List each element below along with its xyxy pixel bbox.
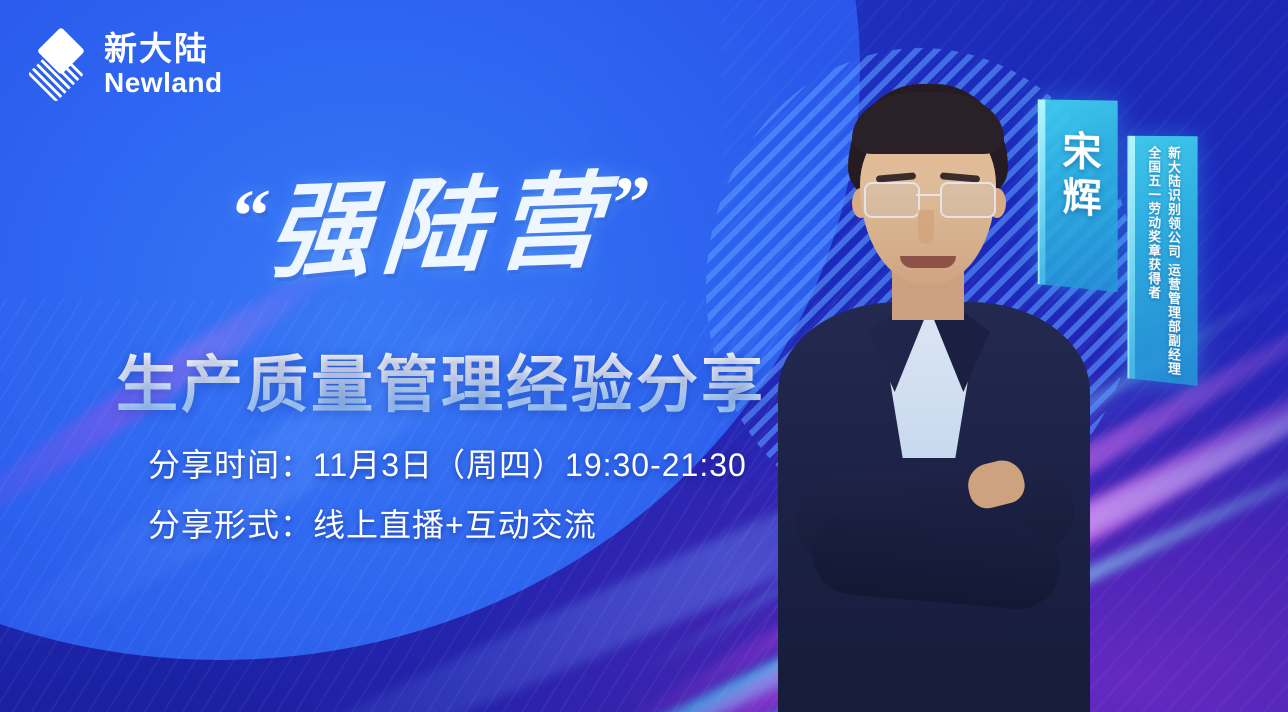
speaker-credential-1: 新大陆识别领公司 运营管理部副经理 <box>1165 146 1181 374</box>
page-subtitle: 生产质量管理经验分享 <box>116 334 766 424</box>
speaker-mouth <box>900 256 956 268</box>
headline-block: “强陆营” <box>232 168 852 277</box>
speaker-nose <box>918 210 934 244</box>
speaker-credential-2: 全国五一劳动奖章获得者 <box>1145 146 1161 372</box>
quote-close: ” <box>610 161 653 244</box>
brand-name-cn: 新大陆 <box>104 32 223 65</box>
speaker-name: 宋辉 <box>1050 129 1107 224</box>
newland-diamond-icon <box>30 34 92 96</box>
brand-logo: 新大陆 Newland <box>30 32 223 97</box>
brand-logo-text: 新大陆 Newland <box>104 32 223 97</box>
detail-line-time: 分享时间：11月3日（周四）19:30-21:30 <box>148 440 747 486</box>
panel-edge-highlight <box>1040 99 1046 284</box>
brush-title-text: 强陆营 <box>264 159 616 294</box>
speaker-credential-panel: 新大陆识别领公司 运营管理部副经理 全国五一劳动奖章获得者 <box>1127 136 1197 386</box>
quote-open: “ <box>229 175 272 258</box>
brand-name-en: Newland <box>104 69 223 97</box>
speaker-name-panel: 宋辉 <box>1038 99 1118 292</box>
promo-poster: 新大陆 Newland “强陆营” 生产质量管理经验分享 分享时间：11月3日（… <box>0 0 1288 712</box>
detail-line-format: 分享形式：线上直播+互动交流 <box>148 500 597 546</box>
